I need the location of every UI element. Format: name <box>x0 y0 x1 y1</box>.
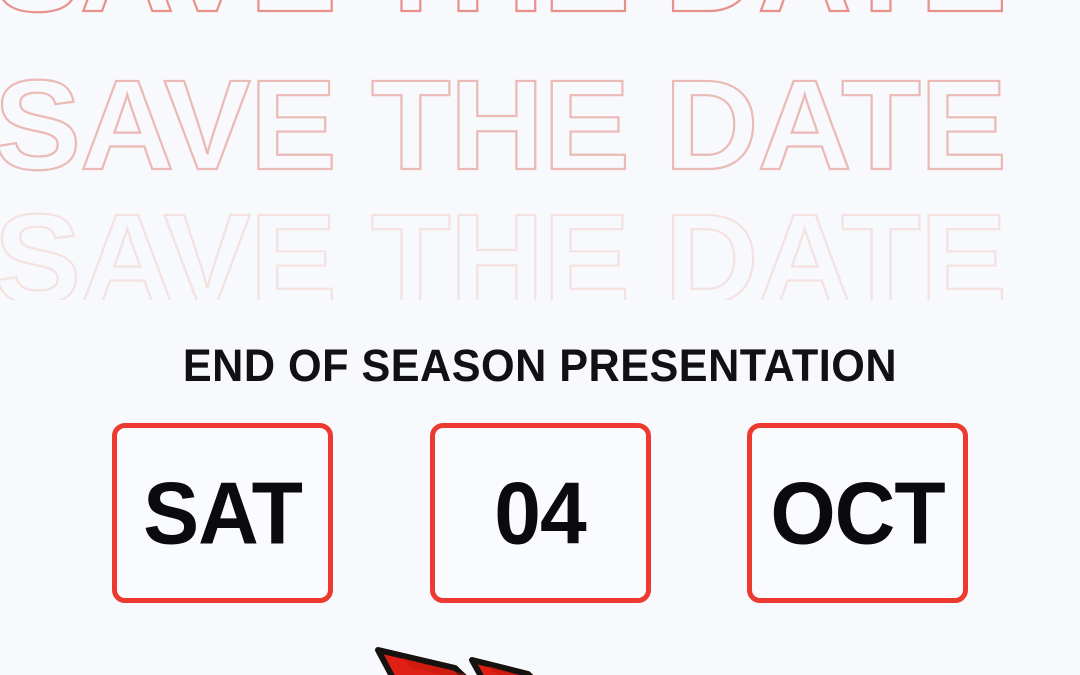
headline-text: END OF SEASON PRESENTATION <box>183 343 897 388</box>
club-wing-logo-icon <box>360 620 720 675</box>
date-card-row: SAT 04 OCT <box>112 423 968 603</box>
date-card-month-value: OCT <box>770 469 944 557</box>
date-card-month: OCT <box>747 423 968 603</box>
date-card-day: 04 <box>430 423 651 603</box>
ghost-text-row-3: SAVE THE DATE <box>0 196 1080 300</box>
save-the-date-poster: SAVE THE DATE SAVE THE DATE SAVE THE DAT… <box>0 0 1080 675</box>
ghost-text-row-1: SAVE THE DATE <box>0 0 1080 32</box>
logo-area <box>0 620 1080 675</box>
date-card-weekday-value: SAT <box>143 469 302 557</box>
ghost-text-row-2: SAVE THE DATE <box>0 62 1080 190</box>
page-title: END OF SEASON PRESENTATION <box>0 343 1080 388</box>
date-card-weekday: SAT <box>112 423 333 603</box>
ghost-text-band: SAVE THE DATE SAVE THE DATE SAVE THE DAT… <box>0 0 1080 300</box>
date-card-day-value: 04 <box>494 469 585 557</box>
